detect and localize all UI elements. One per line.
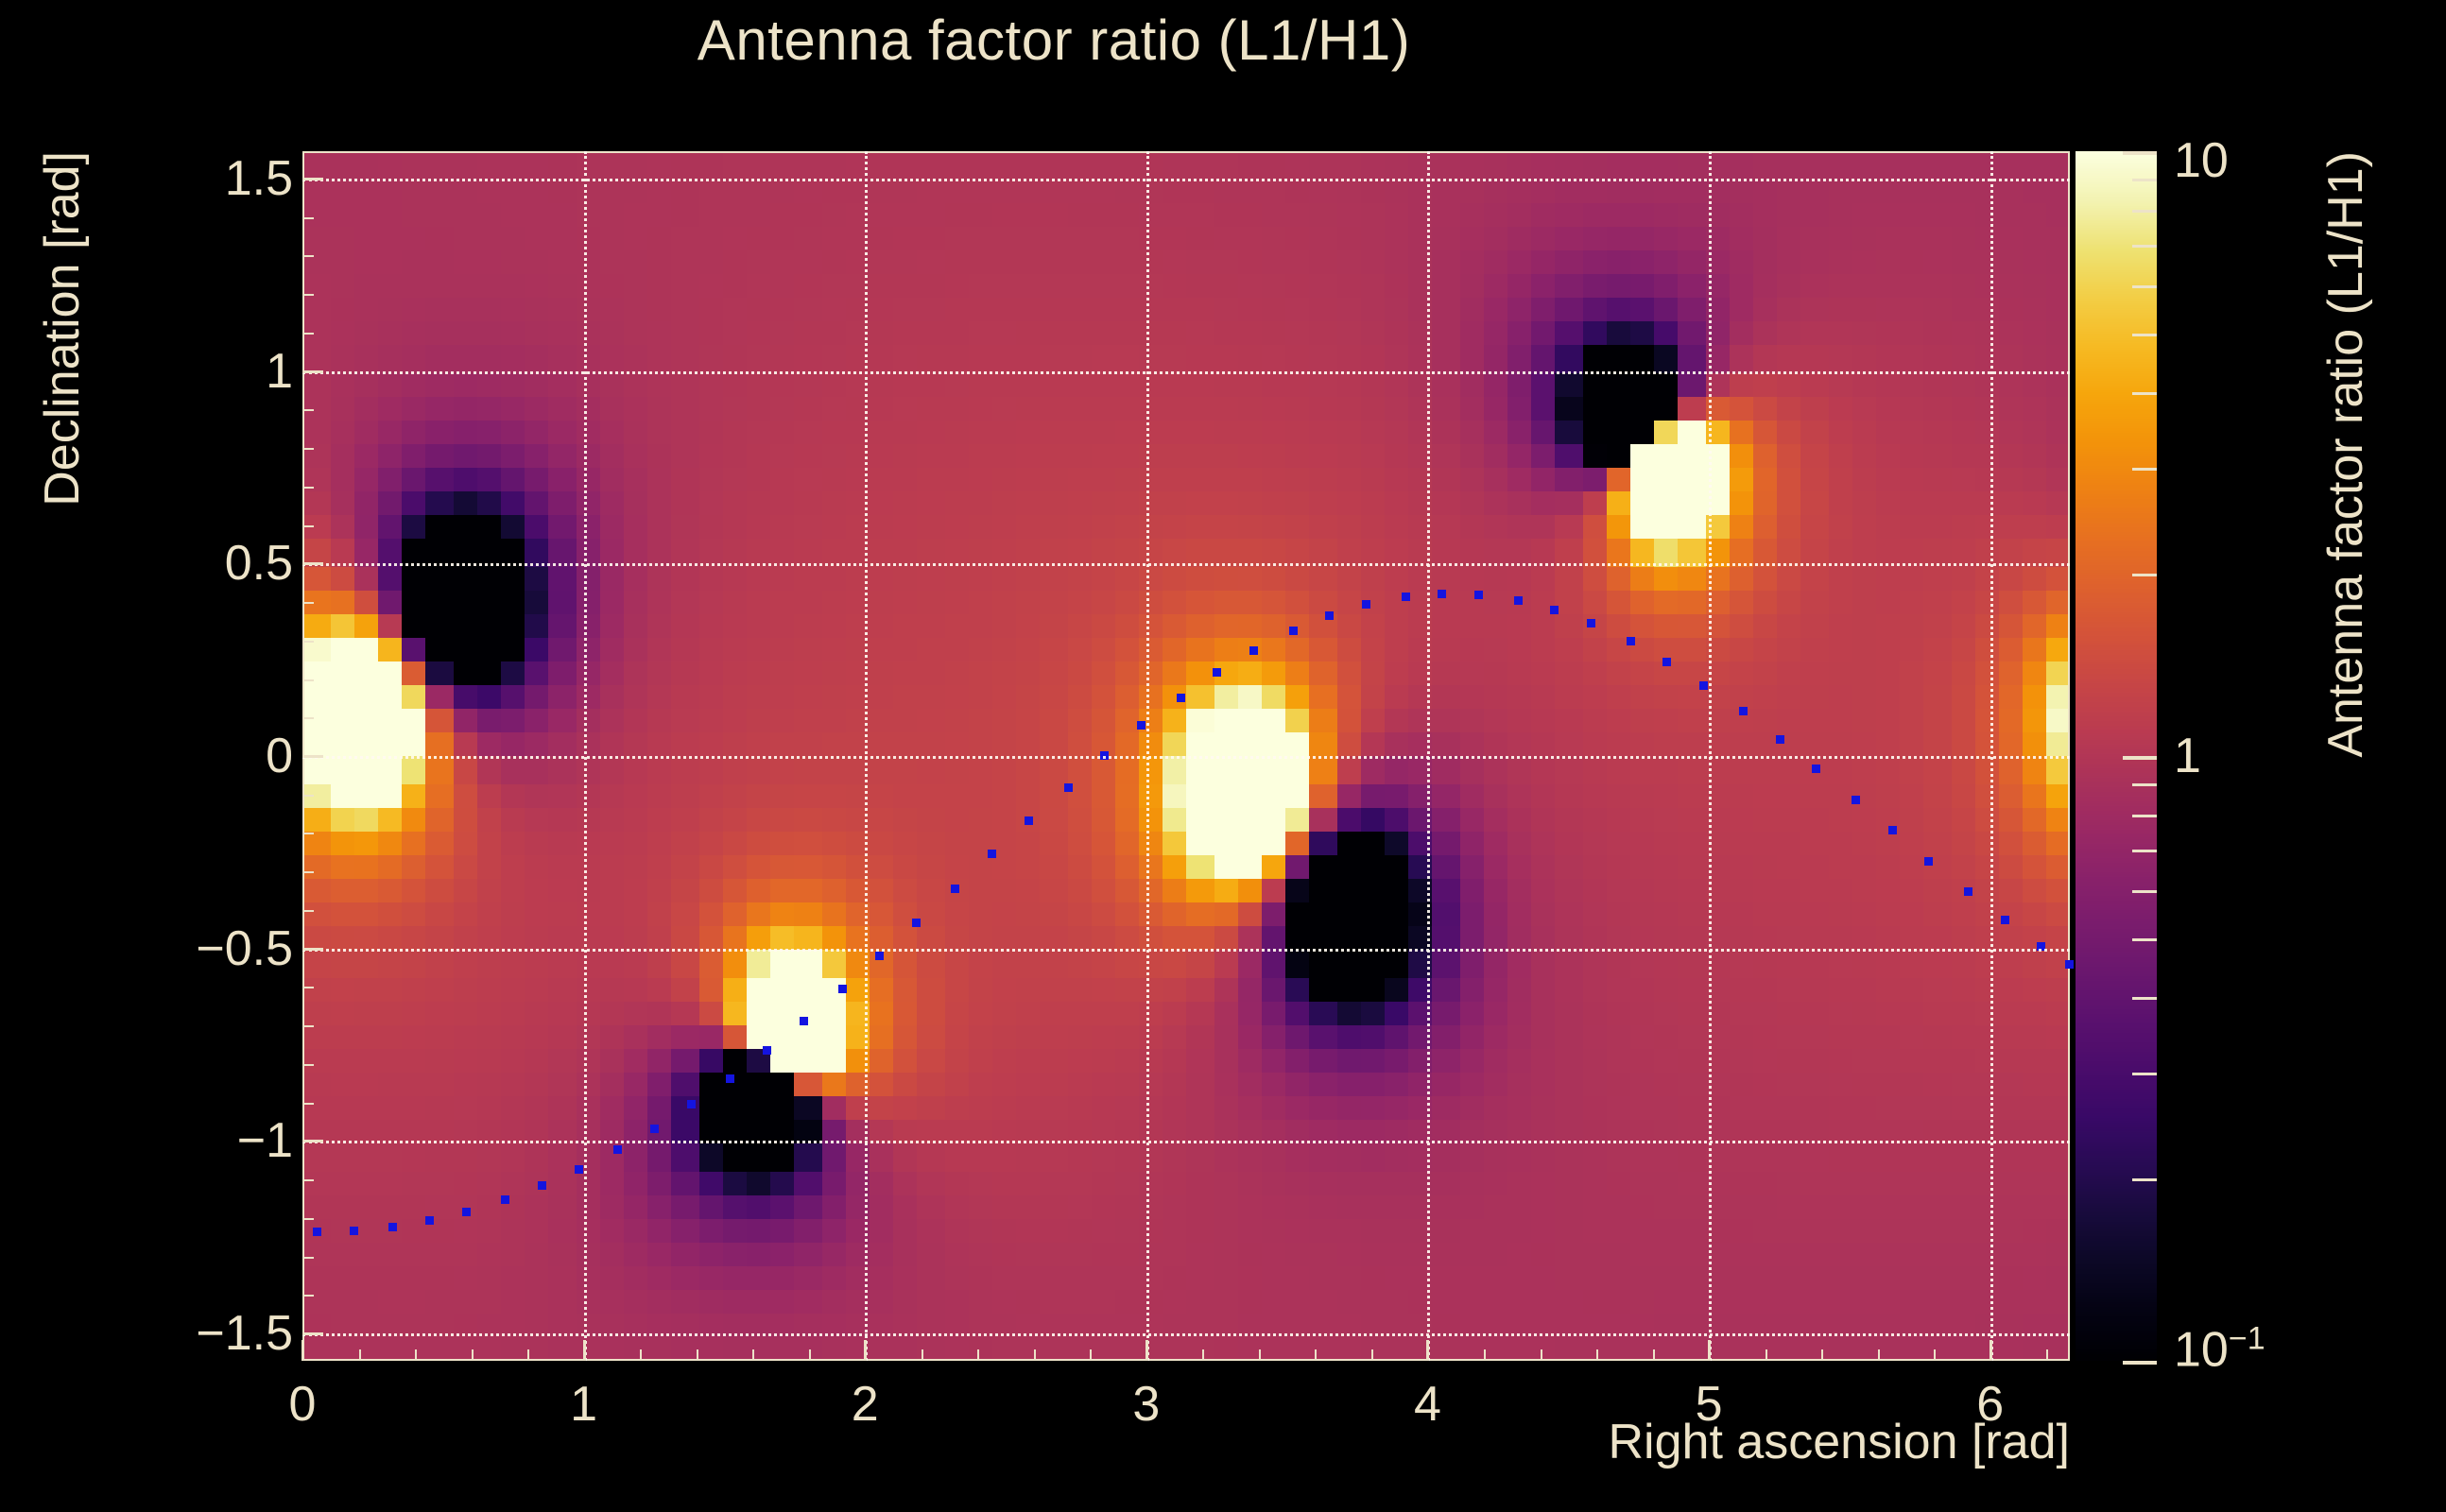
y-axis-minor-tick [302, 217, 314, 219]
colorbar-minor-tick [2132, 997, 2157, 1000]
x-axis-minor-tick [922, 1349, 923, 1361]
y-axis-minor-tick [302, 871, 314, 873]
y-axis-minor-tick [302, 1141, 314, 1143]
horizon-marker [1964, 887, 1972, 896]
colorbar-tick-label: 10 [2174, 132, 2229, 189]
y-axis-minor-tick [302, 756, 314, 758]
y-axis-minor-tick [302, 987, 314, 988]
colorbar-title: Antenna factor ratio (L1/H1) [2317, 151, 2374, 758]
horizon-marker [462, 1208, 471, 1216]
x-axis-minor-tick [472, 1349, 474, 1361]
colorbar-minor-tick [2132, 210, 2157, 213]
x-axis-minor-tick [1878, 1349, 1880, 1361]
y-tick-label: 1 [180, 343, 293, 400]
y-axis-minor-tick [302, 1179, 314, 1181]
y-tick-label: −1.5 [180, 1305, 293, 1362]
horizon-marker [1362, 600, 1370, 609]
horizon-marker [575, 1165, 583, 1174]
horizon-marker [838, 985, 847, 993]
figure-title: Antenna factor ratio (L1/H1) [0, 8, 2108, 73]
y-axis-minor-tick [302, 679, 314, 681]
x-axis-minor-tick [640, 1349, 642, 1361]
y-axis-minor-tick [302, 641, 314, 643]
horizon-marker [800, 1017, 808, 1025]
y-axis-minor-tick [302, 371, 314, 373]
x-axis-minor-tick [1990, 1349, 1992, 1361]
x-axis-minor-tick [415, 1349, 417, 1361]
x-axis-title: Right ascension [rad] [1609, 1414, 2071, 1470]
y-tick-label: 1.5 [180, 150, 293, 207]
horizon-marker [538, 1181, 546, 1190]
colorbar-minor-tick [2132, 783, 2157, 786]
horizon-marker [1812, 765, 1820, 773]
x-tick-label: 3 [1132, 1376, 1160, 1433]
x-axis-minor-tick [865, 1349, 867, 1361]
x-tick-label: 4 [1414, 1376, 1441, 1433]
x-axis-minor-tick [584, 1349, 586, 1361]
y-axis-minor-tick [302, 1103, 314, 1105]
colorbar-minor-tick [2132, 392, 2157, 395]
y-tick-label: −0.5 [180, 920, 293, 977]
horizon-marker [1100, 751, 1109, 760]
horizon-marker [1213, 668, 1221, 677]
horizon-marker [350, 1227, 358, 1235]
y-axis-minor-tick [302, 255, 314, 257]
horizon-marker [1249, 646, 1258, 655]
y-axis-title: Declination [rad] [34, 151, 91, 507]
x-axis-minor-tick [1596, 1349, 1598, 1361]
horizon-marker [1888, 826, 1897, 834]
x-axis-minor-tick [1821, 1349, 1823, 1361]
x-axis-minor-tick [2046, 1349, 2048, 1361]
colorbar-minor-tick [2132, 334, 2157, 336]
colorbar-minor-tick [2132, 245, 2157, 248]
x-axis-minor-tick [1653, 1349, 1655, 1361]
horizon-marker [763, 1046, 771, 1055]
horizon-marker [425, 1216, 434, 1225]
y-axis-minor-tick [302, 1333, 314, 1335]
x-tick-label: 2 [852, 1376, 879, 1433]
y-tick-label: 0 [180, 728, 293, 784]
y-axis-minor-tick [302, 833, 314, 834]
x-axis-minor-tick [1202, 1349, 1204, 1361]
horizon-marker [1852, 796, 1860, 804]
colorbar-minor-tick [2132, 938, 2157, 941]
horizon-marker [1474, 591, 1483, 599]
x-axis-minor-tick [1709, 1349, 1711, 1361]
colorbar-minor-tick [2132, 890, 2157, 893]
horizon-marker [912, 919, 921, 927]
x-axis-minor-tick [1259, 1349, 1261, 1361]
x-axis-minor-tick [1484, 1349, 1486, 1361]
colorbar-minor-tick [2132, 574, 2157, 576]
horizon-marker [1289, 627, 1298, 635]
y-axis-minor-tick [302, 179, 314, 180]
x-axis-minor-tick [1090, 1349, 1092, 1361]
heatmap-canvas [302, 151, 2070, 1361]
x-axis-minor-tick [1766, 1349, 1767, 1361]
figure-root: Antenna factor ratio (L1/H1) 0123456 1.5… [0, 0, 2446, 1512]
y-axis-minor-tick [302, 717, 314, 719]
horizon-marker [988, 850, 996, 858]
horizon-marker [951, 885, 959, 893]
horizon-marker [1587, 619, 1595, 627]
y-axis-minor-tick [302, 910, 314, 912]
horizon-marker [1550, 606, 1559, 614]
horizon-marker [1924, 857, 1933, 866]
horizon-marker [2065, 960, 2074, 969]
y-axis-minor-tick [302, 1218, 314, 1220]
horizon-marker [1514, 596, 1523, 605]
y-axis-minor-tick [302, 1064, 314, 1066]
horizon-marker [613, 1145, 622, 1154]
horizon-marker [875, 952, 884, 960]
y-axis-minor-tick [302, 487, 314, 489]
horizon-marker [1699, 681, 1708, 690]
colorbar-minor-tick [2132, 179, 2157, 181]
colorbar-tick-label: 1 [2174, 728, 2201, 784]
x-axis-minor-tick [1315, 1349, 1317, 1361]
x-axis-minor-tick [302, 1349, 304, 1361]
y-axis-minor-tick [302, 563, 314, 565]
horizon-marker [1662, 658, 1671, 666]
x-axis-minor-tick [1034, 1349, 1036, 1361]
colorbar-minor-tick [2132, 1073, 2157, 1075]
y-axis-minor-tick [302, 1295, 314, 1297]
y-axis-minor-tick [302, 795, 314, 797]
horizon-marker [1137, 721, 1145, 730]
horizon-marker [726, 1074, 734, 1083]
x-axis-minor-tick [977, 1349, 979, 1361]
y-axis-minor-tick [302, 949, 314, 951]
horizon-marker [1438, 590, 1446, 598]
y-axis-minor-tick [302, 602, 314, 604]
x-axis-minor-tick [1427, 1349, 1429, 1361]
y-tick-label: 0.5 [180, 535, 293, 592]
x-tick-label: 1 [570, 1376, 597, 1433]
x-tick-label: 0 [289, 1376, 317, 1433]
x-axis-minor-tick [752, 1349, 754, 1361]
colorbar-major-tick [2123, 1361, 2157, 1365]
x-axis-minor-tick [1371, 1349, 1373, 1361]
colorbar-minor-tick [2132, 1178, 2157, 1181]
horizon-marker [1739, 707, 1748, 715]
horizon-marker [1177, 694, 1185, 702]
y-axis-minor-tick [302, 294, 314, 296]
colorbar-minor-tick [2132, 850, 2157, 852]
x-axis-minor-tick [1541, 1349, 1542, 1361]
horizon-marker [2037, 942, 2045, 951]
horizon-marker [313, 1228, 321, 1236]
horizon-marker [1025, 816, 1033, 825]
colorbar-tick-label: 10−1 [2174, 1320, 2265, 1378]
colorbar-major-tick [2123, 756, 2157, 760]
y-axis-minor-tick [302, 525, 314, 527]
y-axis-minor-tick [302, 333, 314, 335]
horizon-marker [1325, 611, 1334, 620]
x-axis-minor-tick [359, 1349, 361, 1361]
x-axis-minor-tick [697, 1349, 698, 1361]
colorbar-minor-tick [2132, 285, 2157, 288]
horizon-marker [650, 1125, 659, 1133]
y-tick-label: −1 [180, 1112, 293, 1169]
horizon-marker [1776, 735, 1784, 744]
x-axis-minor-tick [1146, 1349, 1148, 1361]
x-axis-minor-tick [527, 1349, 529, 1361]
horizon-marker [1402, 593, 1410, 601]
colorbar-major-tick [2123, 151, 2157, 155]
colorbar-minor-tick [2132, 468, 2157, 471]
x-axis-minor-tick [1934, 1349, 1936, 1361]
y-axis-minor-tick [302, 409, 314, 411]
x-axis-minor-tick [809, 1349, 811, 1361]
heatmap-plot-area[interactable] [302, 151, 2070, 1361]
horizon-marker [2001, 916, 2009, 924]
y-axis-minor-tick [302, 1257, 314, 1259]
horizon-marker [1064, 783, 1073, 792]
y-axis-minor-tick [302, 1025, 314, 1027]
horizon-marker [501, 1195, 509, 1204]
horizon-marker [687, 1100, 696, 1108]
horizon-marker [388, 1223, 397, 1231]
y-axis-minor-tick [302, 448, 314, 450]
colorbar-minor-tick [2132, 815, 2157, 817]
horizon-marker [1627, 637, 1635, 645]
